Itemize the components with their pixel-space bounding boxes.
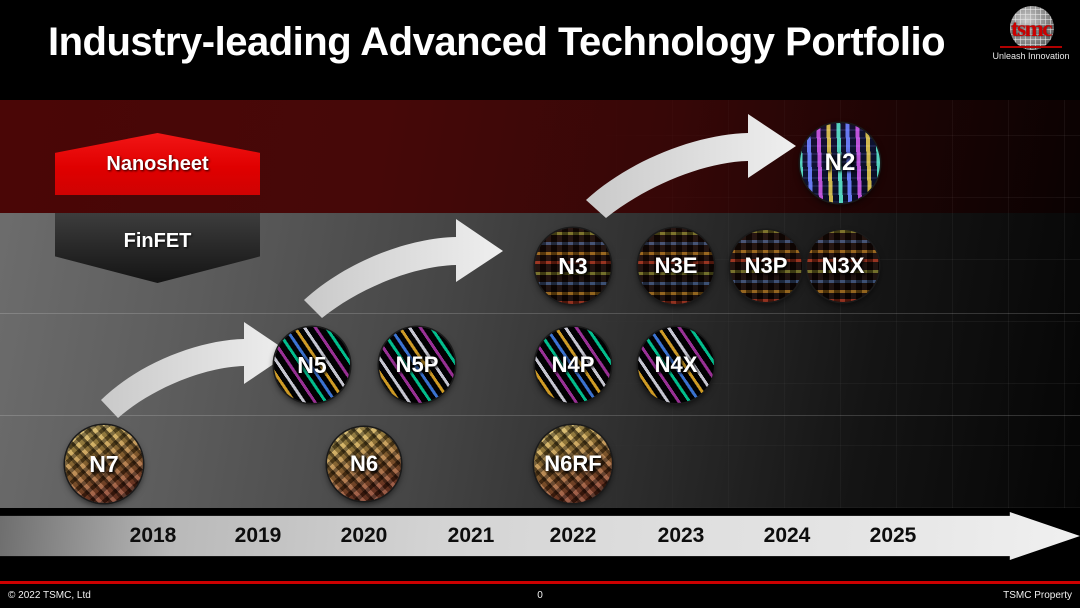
timeline-year-2019: 2019 bbox=[235, 524, 282, 548]
title-bar: Industry-leading Advanced Technology Por… bbox=[0, 0, 1080, 100]
timeline-year-2023: 2023 bbox=[658, 524, 705, 548]
tech-node-label: N2 bbox=[825, 149, 856, 177]
tech-node-label: N5P bbox=[396, 352, 439, 378]
timeline-year-2022: 2022 bbox=[550, 524, 597, 548]
page-title: Industry-leading Advanced Technology Por… bbox=[48, 20, 945, 65]
arrow-n7-to-n5 bbox=[101, 322, 290, 418]
tech-node-label: N6RF bbox=[544, 451, 601, 477]
logo-tagline: Unleash Innovation bbox=[988, 51, 1074, 61]
roadmap-canvas: Nanosheet FinFET N7N6N6RFN5N5PN4PN4XN3N3… bbox=[0, 100, 1080, 508]
tech-node-label: N6 bbox=[350, 451, 378, 477]
tech-node-n3e[interactable]: N3E bbox=[638, 228, 714, 304]
tech-node-label: N5 bbox=[297, 352, 326, 379]
arrow-n5-to-n3 bbox=[304, 219, 503, 318]
row-divider-1 bbox=[0, 313, 1080, 314]
tech-node-label: N7 bbox=[89, 451, 118, 478]
tech-node-label: N4P bbox=[552, 352, 595, 378]
tech-node-n3[interactable]: N3 bbox=[535, 228, 611, 304]
tech-node-label: N3 bbox=[558, 253, 587, 280]
tech-node-n4p[interactable]: N4P bbox=[535, 327, 611, 403]
slide-root: Industry-leading Advanced Technology Por… bbox=[0, 0, 1080, 608]
tech-node-n3p[interactable]: N3P bbox=[730, 230, 802, 302]
tech-node-n6rf[interactable]: N6RF bbox=[534, 425, 612, 503]
tech-node-n4x[interactable]: N4X bbox=[638, 327, 714, 403]
footer-property: TSMC Property bbox=[1003, 590, 1072, 601]
timeline-year-2025: 2025 bbox=[870, 524, 917, 548]
tech-node-label: N3P bbox=[745, 253, 788, 279]
tech-node-n6[interactable]: N6 bbox=[327, 427, 401, 501]
tech-node-n3x[interactable]: N3X bbox=[807, 230, 879, 302]
timeline-axis: 20182019202020212022202320242025 bbox=[0, 512, 1080, 560]
banner-nanosheet-label: Nanosheet bbox=[106, 153, 208, 176]
tech-node-n5p[interactable]: N5P bbox=[379, 327, 455, 403]
tech-node-label: N3X bbox=[822, 253, 865, 279]
tech-node-label: N4X bbox=[655, 352, 698, 378]
timeline-year-2024: 2024 bbox=[764, 524, 811, 548]
timeline-year-2021: 2021 bbox=[448, 524, 495, 548]
banner-finfet-label: FinFET bbox=[124, 230, 192, 253]
tech-node-n7[interactable]: N7 bbox=[65, 425, 143, 503]
tech-node-n2[interactable]: N2 bbox=[800, 123, 880, 203]
footer-divider bbox=[0, 581, 1080, 584]
banner-finfet: FinFET bbox=[55, 213, 260, 283]
footer-page-number: 0 bbox=[0, 590, 1080, 601]
tech-node-n5[interactable]: N5 bbox=[274, 327, 350, 403]
timeline-year-2018: 2018 bbox=[130, 524, 177, 548]
row-divider-2 bbox=[0, 415, 1080, 416]
timeline-year-2020: 2020 bbox=[341, 524, 388, 548]
tech-node-label: N3E bbox=[655, 253, 698, 279]
slide-footer: © 2022 TSMC, Ltd 0 TSMC Property bbox=[0, 560, 1080, 608]
tsmc-wordmark: tsmc bbox=[988, 16, 1074, 42]
logo-divider bbox=[1000, 46, 1062, 48]
tsmc-logo: tsmc Unleash Innovation bbox=[988, 6, 1074, 72]
